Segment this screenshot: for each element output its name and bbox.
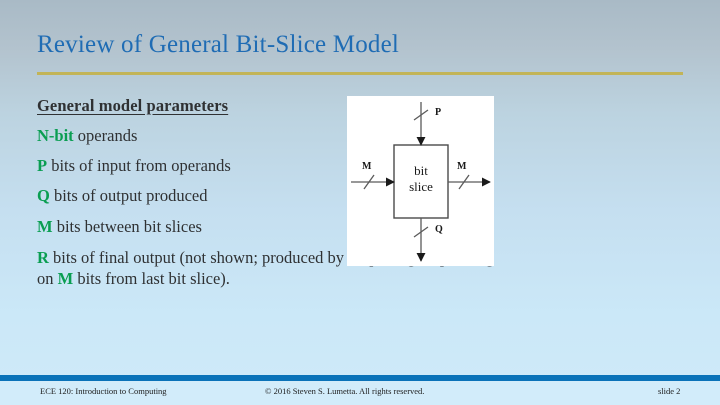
- footer-course-label: ECE 120: Introduction to Computing: [40, 386, 167, 396]
- bit-slice-diagram-svg: bit slice P M M Q: [347, 96, 494, 266]
- q-label: Q: [435, 224, 443, 235]
- symbol-n-bit: N-bit: [37, 126, 74, 145]
- symbol-q: Q: [37, 186, 50, 205]
- title-underline-rule: [37, 72, 683, 75]
- symbol-m: M: [37, 217, 53, 236]
- list-item-text: bits of input from operands: [47, 156, 231, 175]
- bit-slice-box-label-line2: slice: [409, 179, 433, 194]
- symbol-m-2: M: [58, 269, 74, 288]
- page-title: Review of General Bit-Slice Model: [37, 31, 399, 59]
- p-label: P: [435, 107, 441, 118]
- final-text-b: bits from last bit slice).: [73, 269, 230, 288]
- list-item-text: bits between bit slices: [53, 217, 202, 236]
- bit-slice-box-label-line1: bit: [414, 163, 428, 178]
- footer-slide-number: slide 2: [658, 386, 680, 396]
- symbol-p: P: [37, 156, 47, 175]
- footer-copyright: © 2016 Steven S. Lumetta. All rights res…: [265, 386, 424, 396]
- slide-footer: ECE 120: Introduction to Computing © 201…: [0, 381, 720, 405]
- symbol-r: R: [37, 248, 49, 267]
- m-input-label: M: [362, 161, 372, 172]
- list-item-text: operands: [74, 126, 138, 145]
- list-item-text: bits of output produced: [50, 186, 208, 205]
- bit-slice-diagram: bit slice P M M Q: [347, 96, 494, 266]
- m-output-label: M: [457, 161, 467, 172]
- slide-canvas: Review of General Bit-Slice Model Genera…: [0, 0, 720, 405]
